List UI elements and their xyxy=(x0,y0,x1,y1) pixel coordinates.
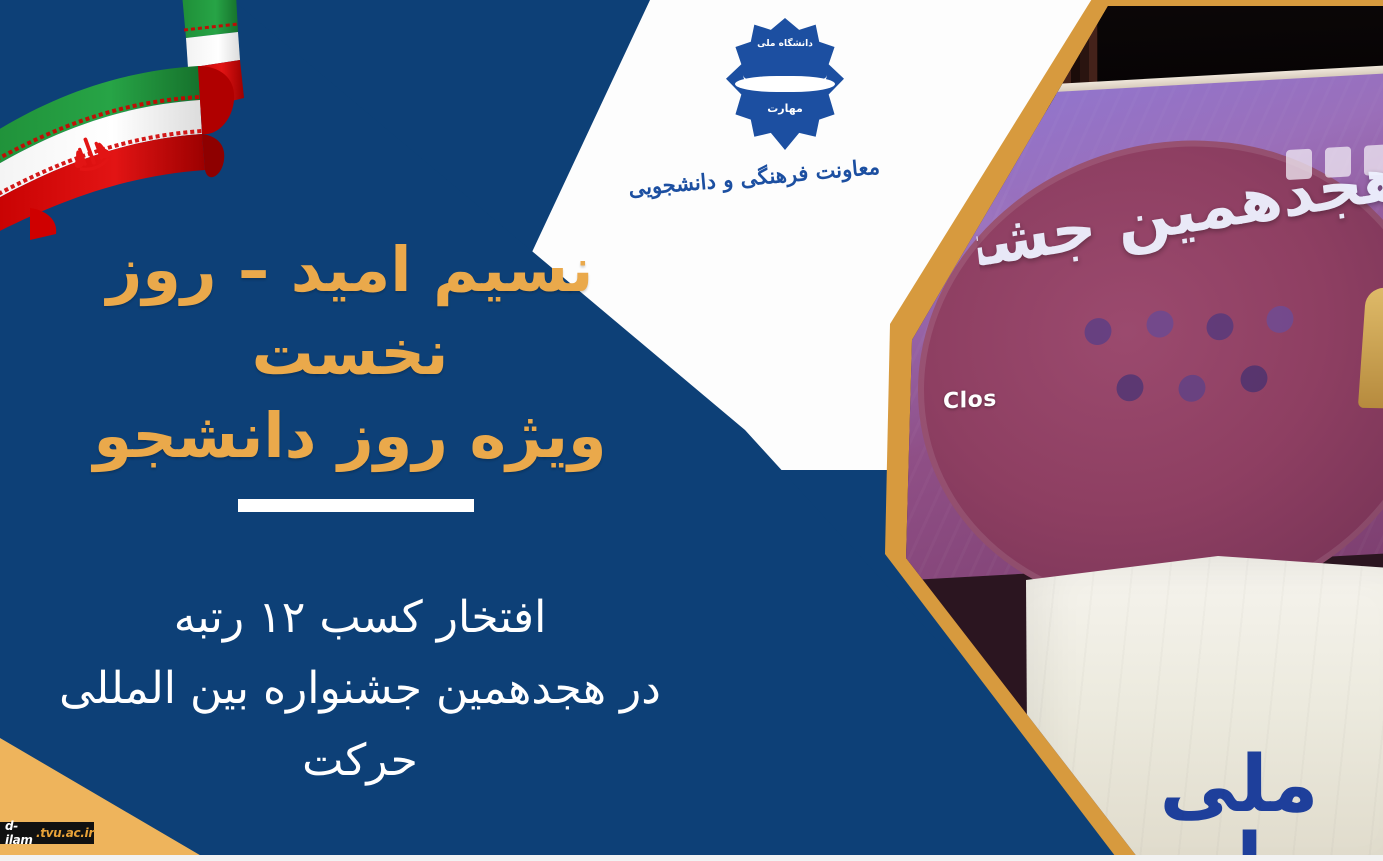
poster-subtitle: افتخار کسب ۱۲ رتبه در هجدهمین جشنواره بی… xyxy=(0,582,720,796)
title-line-1: نسیم امید – روز نخست xyxy=(0,228,700,394)
watermark-name: d-ilam xyxy=(5,819,36,847)
bottom-edge-line xyxy=(0,855,1383,861)
university-logo-block: دانشگاه ملی مهارت معاونت فرهنگی و دانشجو… xyxy=(690,18,880,218)
title-divider xyxy=(238,499,474,512)
title-line-2: ویژه روز دانشجو xyxy=(0,394,700,477)
watermark-domain: .tvu.ac.ir xyxy=(36,826,94,840)
iran-flag-ribbon-icon xyxy=(0,0,286,244)
subtitle-line-2: در هجدهمین جشنواره بین المللی حرکت xyxy=(0,653,720,796)
emblem-bottom-text: مهارت xyxy=(752,102,818,115)
poster-root: هجدهمین جشنواره بین المللی حرکت Clos xyxy=(0,0,1383,861)
university-emblem-icon: دانشگاه ملی مهارت xyxy=(726,18,844,150)
logo-subtitle: معاونت فرهنگی و دانشجویی xyxy=(689,154,880,195)
site-watermark: d-ilam.tvu.ac.ir xyxy=(0,822,94,844)
banner-english-text: Clos xyxy=(943,386,997,414)
poster-title: نسیم امید – روز نخست ویژه روز دانشجو xyxy=(0,228,700,477)
subtitle-line-1: افتخار کسب ۱۲ رتبه xyxy=(0,582,720,653)
emblem-bar xyxy=(735,76,834,92)
emblem-top-text: دانشگاه ملی xyxy=(752,39,818,49)
